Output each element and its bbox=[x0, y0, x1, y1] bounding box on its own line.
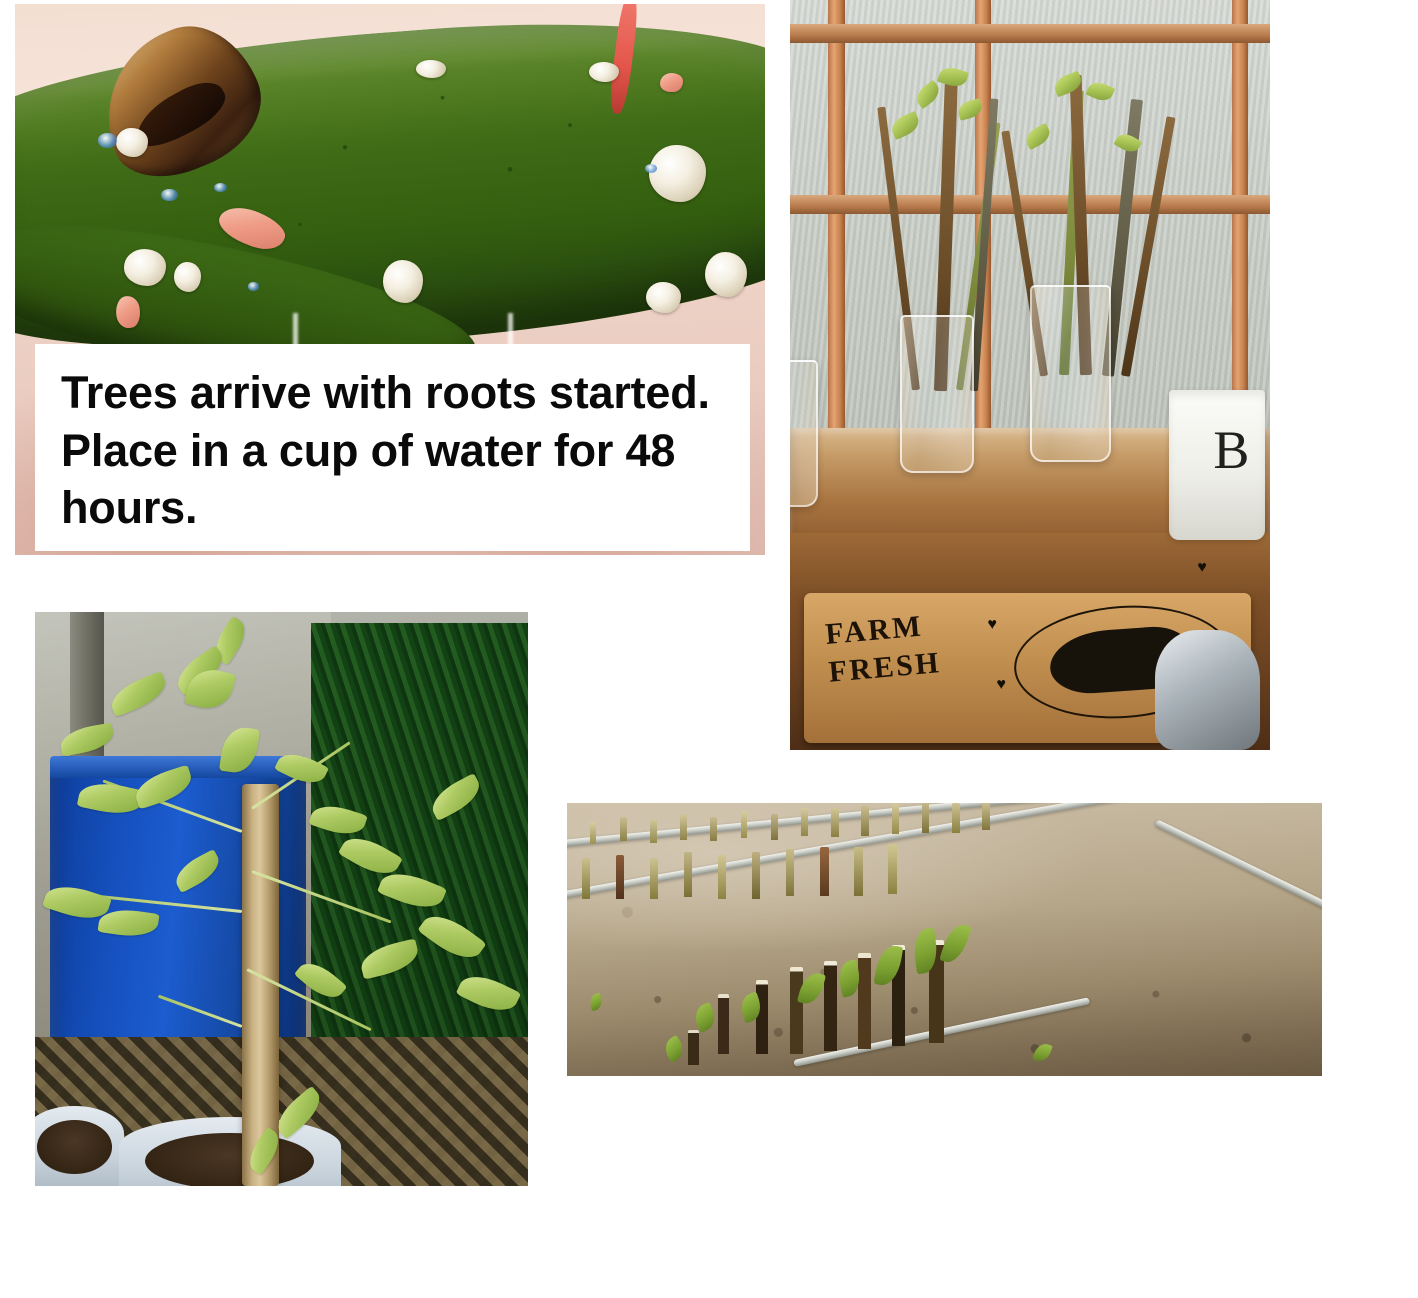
planted-cutting bbox=[888, 844, 897, 895]
photo-collage: Trees arrive with roots started. Place i… bbox=[0, 0, 1418, 1298]
photo-one-month-growth bbox=[35, 612, 528, 1186]
pot-soil bbox=[37, 1120, 112, 1173]
planted-cutting bbox=[718, 994, 729, 1054]
panel-rooted-cutting: Trees arrive with roots started. Place i… bbox=[15, 4, 765, 555]
planted-cutting bbox=[786, 849, 794, 895]
drinking-glass-left bbox=[900, 315, 974, 473]
farm-fresh-sign-text: FARM FRESH bbox=[824, 606, 943, 692]
planted-cutting bbox=[741, 811, 748, 838]
planted-cutting bbox=[820, 847, 829, 896]
photo-field-planting bbox=[567, 803, 1322, 1076]
water-droplet bbox=[248, 282, 259, 290]
water-droplet bbox=[98, 133, 117, 147]
planted-cutting bbox=[688, 1030, 699, 1065]
planted-cutting bbox=[790, 967, 803, 1054]
jar-partial-left-edge bbox=[790, 360, 818, 507]
planted-cutting bbox=[831, 808, 839, 837]
planted-cutting bbox=[756, 980, 768, 1054]
root-nodule bbox=[174, 262, 201, 292]
ceramic-mug: B bbox=[1169, 390, 1265, 540]
window-mullion-vertical bbox=[828, 0, 844, 465]
planted-cutting bbox=[854, 847, 863, 896]
planted-cutting bbox=[824, 961, 837, 1051]
pot-soil bbox=[145, 1133, 314, 1186]
drinking-glass-right bbox=[1030, 285, 1111, 462]
planted-cutting bbox=[616, 855, 624, 899]
planted-cutting bbox=[684, 852, 692, 897]
nursery-pot bbox=[35, 1106, 124, 1186]
heart-icon: ♥ bbox=[996, 677, 1011, 691]
window-mullion-horizontal bbox=[790, 195, 1270, 214]
planted-cutting bbox=[752, 852, 760, 898]
planted-cutting bbox=[801, 808, 808, 835]
root-nodule bbox=[416, 60, 446, 78]
root-nodule bbox=[589, 62, 619, 82]
planted-cutting bbox=[952, 803, 960, 833]
root-nodule bbox=[705, 252, 747, 297]
nursery-pot-main bbox=[119, 1117, 341, 1186]
panel-one-month: One Month of Growth bbox=[35, 612, 528, 1186]
planted-cutting bbox=[858, 953, 872, 1049]
planted-cutting bbox=[861, 806, 869, 836]
root-nodule bbox=[124, 249, 166, 285]
planted-cutting bbox=[680, 814, 687, 840]
water-droplet bbox=[161, 189, 178, 201]
planted-cutting bbox=[982, 803, 990, 830]
planted-cutting bbox=[590, 822, 597, 844]
planted-cutting bbox=[620, 817, 627, 842]
water-droplet bbox=[214, 183, 227, 192]
water-droplet bbox=[645, 164, 657, 173]
planted-cutting bbox=[892, 803, 900, 834]
cutting-trunk bbox=[242, 784, 278, 1186]
photo-water-rooting: B FARM FRESH ♥ ♥ ♥ bbox=[790, 0, 1270, 750]
panel-water-rooting: B FARM FRESH ♥ ♥ ♥ These trees can grow … bbox=[790, 0, 1270, 750]
caption-rooted-cutting: Trees arrive with roots started. Place i… bbox=[35, 344, 750, 551]
heart-icon: ♥ bbox=[1197, 560, 1212, 574]
heart-icon: ♥ bbox=[987, 617, 1002, 631]
root-nodule bbox=[116, 128, 147, 157]
kitchen-faucet bbox=[1155, 630, 1261, 750]
root-nodule bbox=[646, 282, 681, 313]
window-mullion-horizontal bbox=[790, 24, 1270, 43]
planted-cutting bbox=[771, 814, 778, 840]
pink-root-bud bbox=[660, 73, 683, 92]
panel-field-planting: Fast Privacy, Windblock, or Cooling Shad… bbox=[567, 803, 1322, 1076]
planted-cutting bbox=[650, 858, 658, 899]
planted-cutting bbox=[650, 819, 657, 842]
mug-letter: B bbox=[1213, 423, 1249, 477]
planted-cutting bbox=[718, 855, 726, 899]
planted-cutting bbox=[922, 803, 930, 833]
planted-cutting bbox=[582, 858, 590, 899]
planted-cutting bbox=[710, 817, 717, 842]
root-nodule bbox=[383, 260, 424, 303]
